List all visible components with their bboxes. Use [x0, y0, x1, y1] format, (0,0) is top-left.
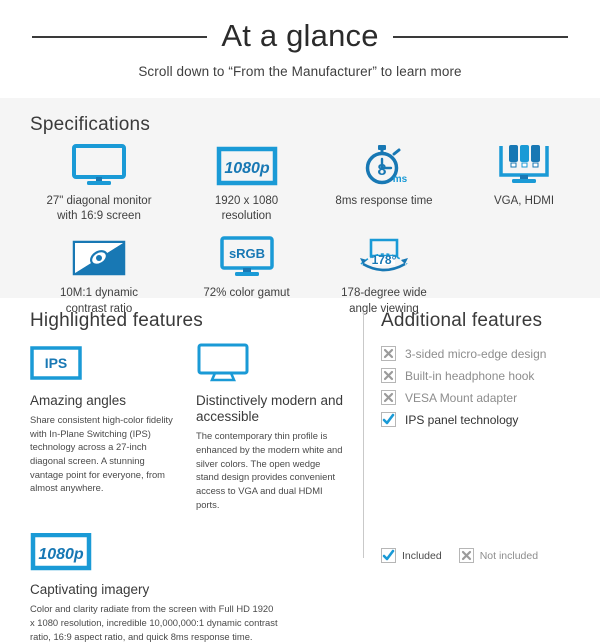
specifications-row-1: 27" diagonal monitorwith 16:9 screen 108…: [0, 142, 600, 224]
additional-feature-label: Built-in headphone hook: [405, 369, 534, 383]
lower-section: Highlighted features IPS Amazing angles …: [0, 298, 600, 643]
highlighted-features-heading: Highlighted features: [30, 310, 363, 332]
additional-features-list: 3-sided micro-edge design Built-in headp…: [381, 346, 600, 427]
additional-feature-item: VESA Mount adapter: [381, 390, 600, 405]
additional-features-section: Additional features 3-sided micro-edge d…: [363, 310, 600, 643]
ips-badge-icon: IPS: [30, 342, 178, 384]
cross-icon: [459, 548, 474, 563]
feature-title-distinctively-modern: Distinctively modern and accessible: [196, 393, 344, 425]
feature-body-amazing-angles: Share consistent high-color fidelity wit…: [30, 413, 178, 495]
spec-label-resolution: 1920 x 1080resolution: [215, 194, 278, 224]
svg-text:8: 8: [378, 162, 387, 179]
monitor-icon: [72, 142, 126, 186]
legend: Included Not included: [381, 548, 538, 563]
additional-feature-item: IPS panel technology: [381, 412, 600, 427]
feature-captivating-imagery: 1080p Captivating imagery Color and clar…: [30, 531, 345, 643]
additional-feature-item: 3-sided micro-edge design: [381, 346, 600, 361]
highlighted-features-columns: IPS Amazing angles Share consistent high…: [30, 342, 363, 511]
cross-icon: [381, 346, 396, 361]
title-row: At a glance: [0, 20, 600, 55]
highlighted-features-section: Highlighted features IPS Amazing angles …: [0, 310, 363, 643]
column-divider: [363, 312, 364, 558]
title-rule-left: [32, 36, 207, 38]
spec-item-response-time: 8 ms 8ms response time: [309, 142, 459, 224]
contrast-icon: [71, 234, 127, 278]
svg-text:1080p: 1080p: [224, 160, 270, 177]
thin-monitor-icon: [196, 342, 344, 384]
feature-body-distinctively-modern: The contemporary thin profile is enhance…: [196, 429, 344, 511]
title-rule-right: [393, 36, 568, 38]
spec-label-diagonal: 27" diagonal monitorwith 16:9 screen: [46, 194, 151, 224]
feature-distinctively-modern: Distinctively modern and accessible The …: [196, 342, 344, 511]
spec-label-response-time: 8ms response time: [335, 194, 432, 209]
page-title: At a glance: [221, 20, 378, 55]
stopwatch-icon: 8 ms: [358, 142, 410, 186]
additional-feature-item: Built-in headphone hook: [381, 368, 600, 383]
feature-body-captivating-imagery: Color and clarity radiate from the scree…: [30, 602, 278, 643]
svg-text:1080p: 1080p: [38, 546, 84, 563]
specifications-heading: Specifications: [30, 114, 600, 136]
srgb-monitor-icon: sRGB: [219, 234, 275, 278]
header: At a glance Scroll down to “From the Man…: [0, 0, 600, 98]
ports-monitor-icon: [496, 142, 552, 186]
svg-text:178°: 178°: [372, 253, 397, 267]
legend-included: Included: [381, 548, 442, 563]
cross-icon: [381, 390, 396, 405]
svg-text:ms: ms: [393, 174, 408, 185]
cross-icon: [381, 368, 396, 383]
additional-feature-label: IPS panel technology: [405, 413, 518, 427]
additional-features-heading: Additional features: [381, 310, 600, 332]
spec-item-diagonal: 27" diagonal monitorwith 16:9 screen: [14, 142, 184, 224]
1080p-badge-icon: 1080p: [30, 531, 345, 573]
spec-label-ports: VGA, HDMI: [494, 194, 554, 209]
feature-amazing-angles: IPS Amazing angles Share consistent high…: [30, 342, 178, 511]
viewing-angle-icon: 178°: [353, 234, 415, 278]
additional-feature-label: VESA Mount adapter: [405, 391, 517, 405]
header-subtitle: Scroll down to “From the Manufacturer” t…: [138, 64, 461, 79]
1080p-badge-icon: 1080p: [216, 142, 278, 186]
infographic-page: At a glance Scroll down to “From the Man…: [0, 0, 600, 600]
svg-text:IPS: IPS: [45, 355, 68, 371]
specifications-section: Specifications 27" diagonal monitorwith …: [0, 98, 600, 298]
spec-item-ports: VGA, HDMI: [459, 142, 589, 224]
additional-feature-label: 3-sided micro-edge design: [405, 347, 546, 361]
spec-item-resolution: 1080p 1920 x 1080resolution: [184, 142, 309, 224]
legend-not-included: Not included: [459, 548, 538, 563]
legend-included-label: Included: [402, 550, 442, 562]
feature-title-captivating-imagery: Captivating imagery: [30, 582, 345, 598]
check-icon: [381, 412, 396, 427]
check-icon: [381, 548, 396, 563]
svg-text:sRGB: sRGB: [228, 246, 264, 261]
feature-title-amazing-angles: Amazing angles: [30, 393, 178, 409]
legend-not-included-label: Not included: [480, 550, 538, 562]
